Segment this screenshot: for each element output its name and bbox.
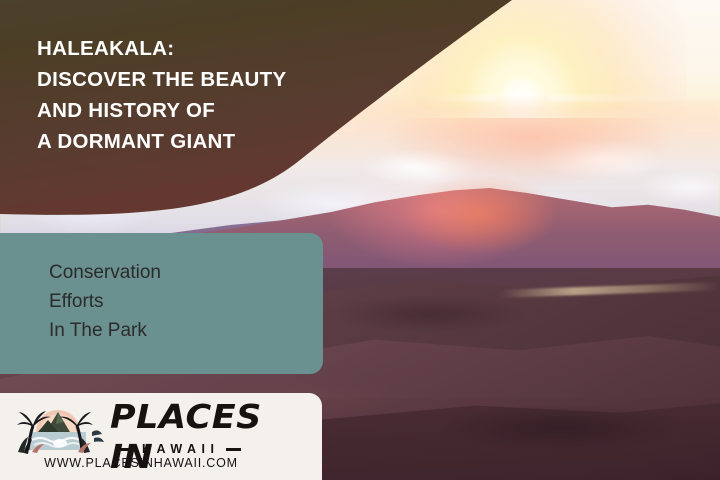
- hawaii-island-scene-icon: [8, 398, 106, 460]
- brand-lockup: PLACES IN HAWAII: [110, 397, 300, 443]
- brand-sub-text: HAWAII: [142, 442, 219, 456]
- title-line-2: DISCOVER THE BEAUTY: [37, 64, 457, 95]
- subtitle-line-1: Conservation: [49, 258, 329, 287]
- dash-right-icon: [226, 448, 241, 451]
- site-url[interactable]: WWW.PLACESINHAWAII.COM: [0, 456, 296, 470]
- page-title: HALEAKALA: DISCOVER THE BEAUTY AND HISTO…: [37, 33, 457, 157]
- title-line-1: HALEAKALA:: [37, 33, 457, 64]
- dash-left-icon: [120, 448, 135, 451]
- promo-banner: HALEAKALA: DISCOVER THE BEAUTY AND HISTO…: [0, 0, 720, 480]
- subtitle-line-2: Efforts: [49, 287, 329, 316]
- subtitle-line-3: In The Park: [49, 316, 329, 345]
- title-line-4: A DORMANT GIANT: [37, 126, 457, 157]
- logo-card[interactable]: PLACES IN HAWAII WWW.PLACESINHAWAII.COM: [0, 393, 322, 480]
- brand-subline: HAWAII: [120, 442, 241, 456]
- title-line-3: AND HISTORY OF: [37, 95, 457, 126]
- subtitle-text: Conservation Efforts In The Park: [49, 258, 329, 345]
